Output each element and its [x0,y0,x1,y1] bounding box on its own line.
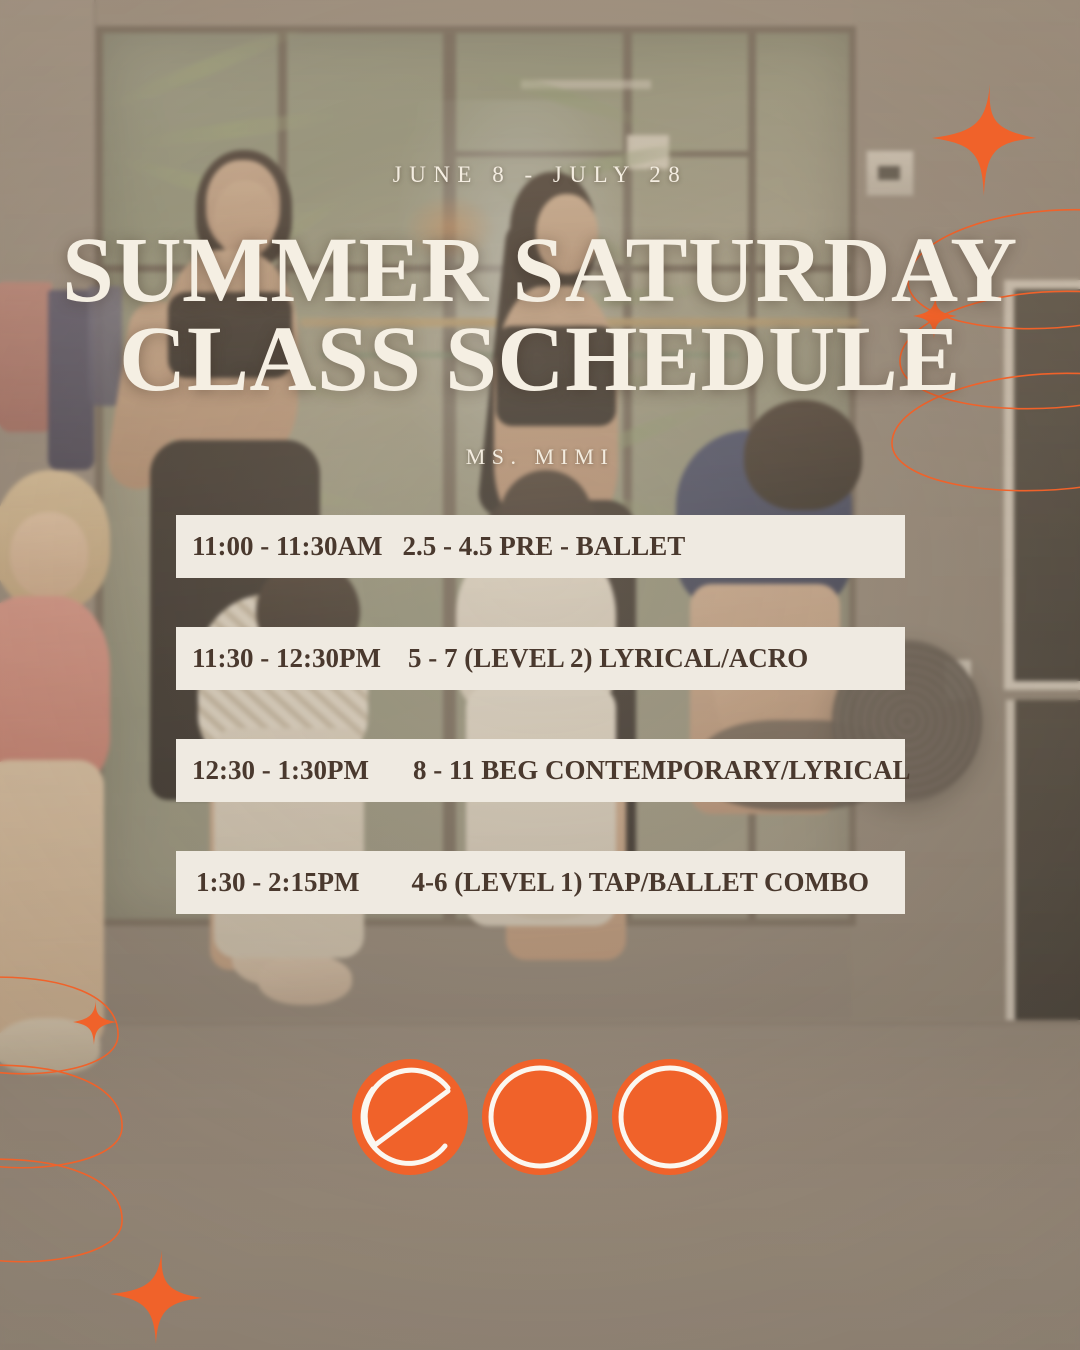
class-name: 5 - 7 (LEVEL 2) LYRICAL/ACRO [408,643,808,674]
date-range: JUNE 8 - JULY 28 [0,162,1080,188]
instructor-name: MS. MIMI [0,444,1080,470]
class-name: 2.5 - 4.5 PRE - BALLET [402,531,685,562]
poster-content: JUNE 8 - JULY 28 SUMMER SATURDAY CLASS S… [0,0,1080,1350]
title-line-2: CLASS SCHEDULE [0,315,1080,404]
circle-o-monogram-icon [478,1055,602,1179]
circle-o-monogram-icon [608,1055,732,1179]
class-time: 1:30 - 2:15PM [196,867,359,898]
table-row[interactable]: 1:30 - 2:15PM 4-6 (LEVEL 1) TAP/BALLET C… [176,851,905,914]
page-title: SUMMER SATURDAY CLASS SCHEDULE [0,226,1080,405]
poster-canvas: JUNE 8 - JULY 28 SUMMER SATURDAY CLASS S… [0,0,1080,1350]
class-time: 11:00 - 11:30AM [192,531,382,562]
table-row[interactable]: 11:00 - 11:30AM 2.5 - 4.5 PRE - BALLET [176,515,905,578]
class-time: 11:30 - 12:30PM [192,643,381,674]
table-row[interactable]: 11:30 - 12:30PM 5 - 7 (LEVEL 2) LYRICAL/… [176,627,905,690]
class-name: 8 - 11 BEG CONTEMPORARY/LYRICAL [413,755,911,786]
table-row[interactable]: 12:30 - 1:30PM 8 - 11 BEG CONTEMPORARY/L… [176,739,905,802]
class-name: 4-6 (LEVEL 1) TAP/BALLET COMBO [411,867,869,898]
title-line-1: SUMMER SATURDAY [62,219,1018,322]
class-time: 12:30 - 1:30PM [192,755,369,786]
studio-logo[interactable] [0,1055,1080,1179]
circle-s-monogram-icon [348,1055,472,1179]
class-schedule-list: 11:00 - 11:30AM 2.5 - 4.5 PRE - BALLET 1… [176,515,905,914]
